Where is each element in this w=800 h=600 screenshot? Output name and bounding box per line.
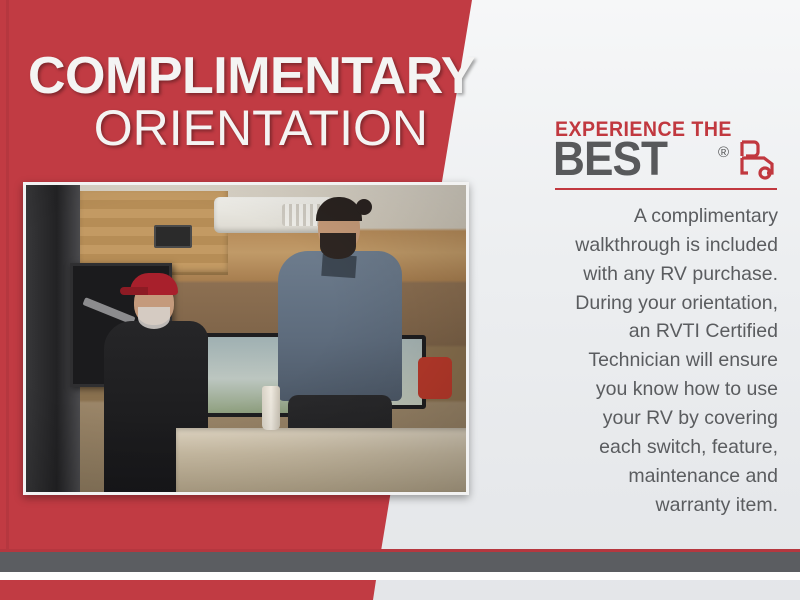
photo-red-object (418, 357, 452, 399)
rv-orientation-photo (23, 182, 469, 495)
headline-line-primary: COMPLIMENTARY (28, 52, 428, 102)
photo-technician-beard (138, 307, 170, 329)
headline-line-secondary: ORIENTATION (28, 104, 428, 152)
rv-motorhome-icon (732, 136, 780, 184)
body-copy-line: with any RV purchase. (500, 260, 778, 289)
photo-customer-hair-bun (356, 199, 372, 215)
red-panel-edge-stripe (6, 0, 9, 551)
registered-trademark-symbol: ® (718, 144, 729, 161)
body-copy-line: each switch, feature, (500, 433, 778, 462)
body-copy-line: Technician will ensure (500, 346, 778, 375)
logo-divider-rule (555, 188, 777, 190)
photo-counter-top (176, 428, 469, 492)
photo-technician-red-cap (130, 273, 178, 295)
body-copy-line: maintenance and (500, 462, 778, 491)
photo-customer-beard (320, 233, 356, 259)
headline-block: COMPLIMENTARY ORIENTATION (28, 52, 428, 152)
body-copy-line: your RV by covering (500, 404, 778, 433)
body-copy-line: A complimentary (500, 202, 778, 231)
experience-the-best-logo: EXPERIENCE THE BEST ® (500, 110, 780, 192)
logo-wordmark: BEST (553, 136, 667, 184)
photo-scene (26, 185, 466, 492)
poster-canvas: COMPLIMENTARY ORIENTATION (0, 0, 800, 600)
photo-drink-cup (262, 386, 280, 430)
photo-wall-switch (154, 225, 192, 248)
body-copy-line: warranty item. (500, 491, 778, 520)
body-copy-line: During your orientation, (500, 289, 778, 318)
body-copy-line: you know how to use (500, 375, 778, 404)
body-copy-line: walkthrough is included (500, 231, 778, 260)
body-copy-line: an RVTI Certified (500, 317, 778, 346)
body-copy-paragraph: A complimentary walkthrough is included … (500, 202, 778, 519)
bottom-white-band (0, 572, 800, 580)
right-content-column: EXPERIENCE THE BEST ® A complimentary wa… (500, 110, 780, 192)
bottom-gray-band (0, 552, 800, 572)
